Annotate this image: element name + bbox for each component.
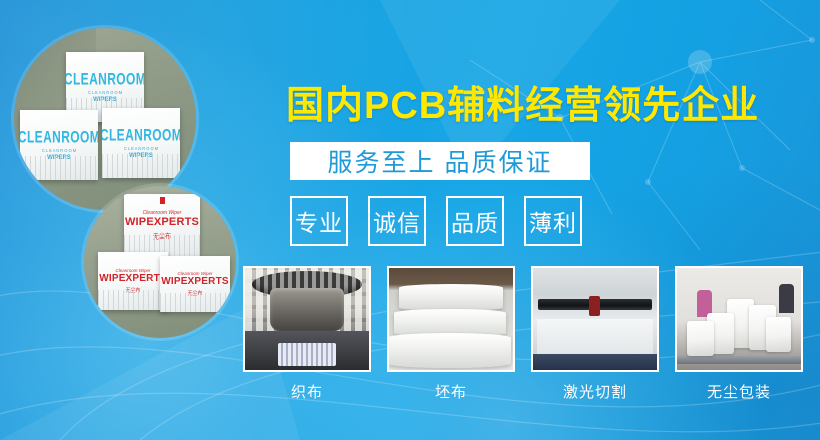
process-photo-item[interactable]: 织布 — [243, 266, 371, 402]
wipe-pack: Cleanroom Wiper WIPEXPERTS 无尘布 — [124, 194, 200, 256]
photo-knitting-machine — [243, 266, 371, 372]
pack-stamp — [160, 197, 165, 204]
process-photo-item[interactable]: 坯布 — [387, 266, 515, 402]
pack-ridges — [20, 156, 98, 180]
photo-cleanroom-packaging — [675, 266, 803, 372]
feature-tag-professional[interactable]: 专业 — [290, 196, 348, 246]
feature-tag-quality[interactable]: 品质 — [446, 196, 504, 246]
machine-head — [270, 288, 344, 331]
promotional-banner: CLEANROOM C L E A N R O O M WIPERS CLEAN… — [0, 0, 820, 440]
photo-laser-cutting — [531, 266, 659, 372]
process-photo-item[interactable]: 激光切割 — [531, 266, 659, 402]
machine-base — [533, 354, 657, 370]
wipe-pack: CLEANROOM C L E A N R O O M WIPERS — [102, 108, 180, 178]
pack-brand: WIPEXPERTS — [125, 216, 199, 228]
fabric-bale — [766, 317, 791, 352]
product-photo-wipexperts: Cleanroom Wiper WIPEXPERTS 无尘布 Cleanroom… — [84, 186, 236, 338]
worker-figure — [779, 284, 794, 313]
wipe-pack: Cleanroom Wiper WIPEXPERTS 无尘布 — [160, 256, 230, 312]
knitted-fabric — [278, 343, 335, 365]
feature-tag-integrity[interactable]: 诚信 — [368, 196, 426, 246]
work-table — [677, 356, 801, 364]
fabric-roll — [399, 284, 503, 311]
pack-ridges — [98, 290, 168, 310]
fabric-roll — [387, 333, 511, 368]
feature-tag-list: 专业 诚信 品质 薄利 — [290, 196, 582, 246]
pack-brand: WIPEXPERTS — [161, 276, 229, 287]
laser-head — [589, 296, 600, 316]
pack-brand: CLEANROOM — [66, 69, 144, 88]
photo-caption: 无尘包装 — [707, 381, 771, 402]
pack-ridges — [102, 154, 180, 178]
pack-brand: CLEANROOM — [20, 127, 98, 146]
pack-subtext-1: C L E A N R O O M — [42, 147, 76, 153]
subtitle-bar: 服务至上 品质保证 — [290, 142, 590, 180]
photo-fabric-rolls — [387, 266, 515, 372]
fabric-bale — [687, 321, 714, 356]
pack-brand: WIPEXPERTS — [99, 273, 167, 284]
pack-ridges — [160, 293, 230, 312]
subtitle-text: 服务至上 品质保证 — [328, 143, 553, 179]
product-photo-cleanroom-wipes: CLEANROOM C L E A N R O O M WIPERS CLEAN… — [14, 28, 196, 210]
banner-headline: 国内PCB辅料经营领先企业 — [286, 74, 759, 129]
wipe-pack: CLEANROOM C L E A N R O O M WIPERS — [20, 110, 98, 180]
pack-brand: CLEANROOM — [102, 125, 180, 144]
photo-caption: 激光切割 — [563, 381, 627, 402]
photo-caption: 坯布 — [435, 381, 467, 402]
feature-tag-low-margin[interactable]: 薄利 — [524, 196, 582, 246]
photo-caption: 织布 — [291, 381, 323, 402]
process-photo-item[interactable]: 无尘包装 — [675, 266, 803, 402]
wipe-pack: Cleanroom Wiper WIPEXPERTS 无尘布 — [98, 252, 168, 310]
process-photo-strip: 织布 坯布 激光切割 — [243, 266, 803, 402]
pack-subtext-1: C L E A N R O O M — [124, 145, 158, 151]
pack-subtext-1: C L E A N R O O M — [88, 89, 122, 95]
